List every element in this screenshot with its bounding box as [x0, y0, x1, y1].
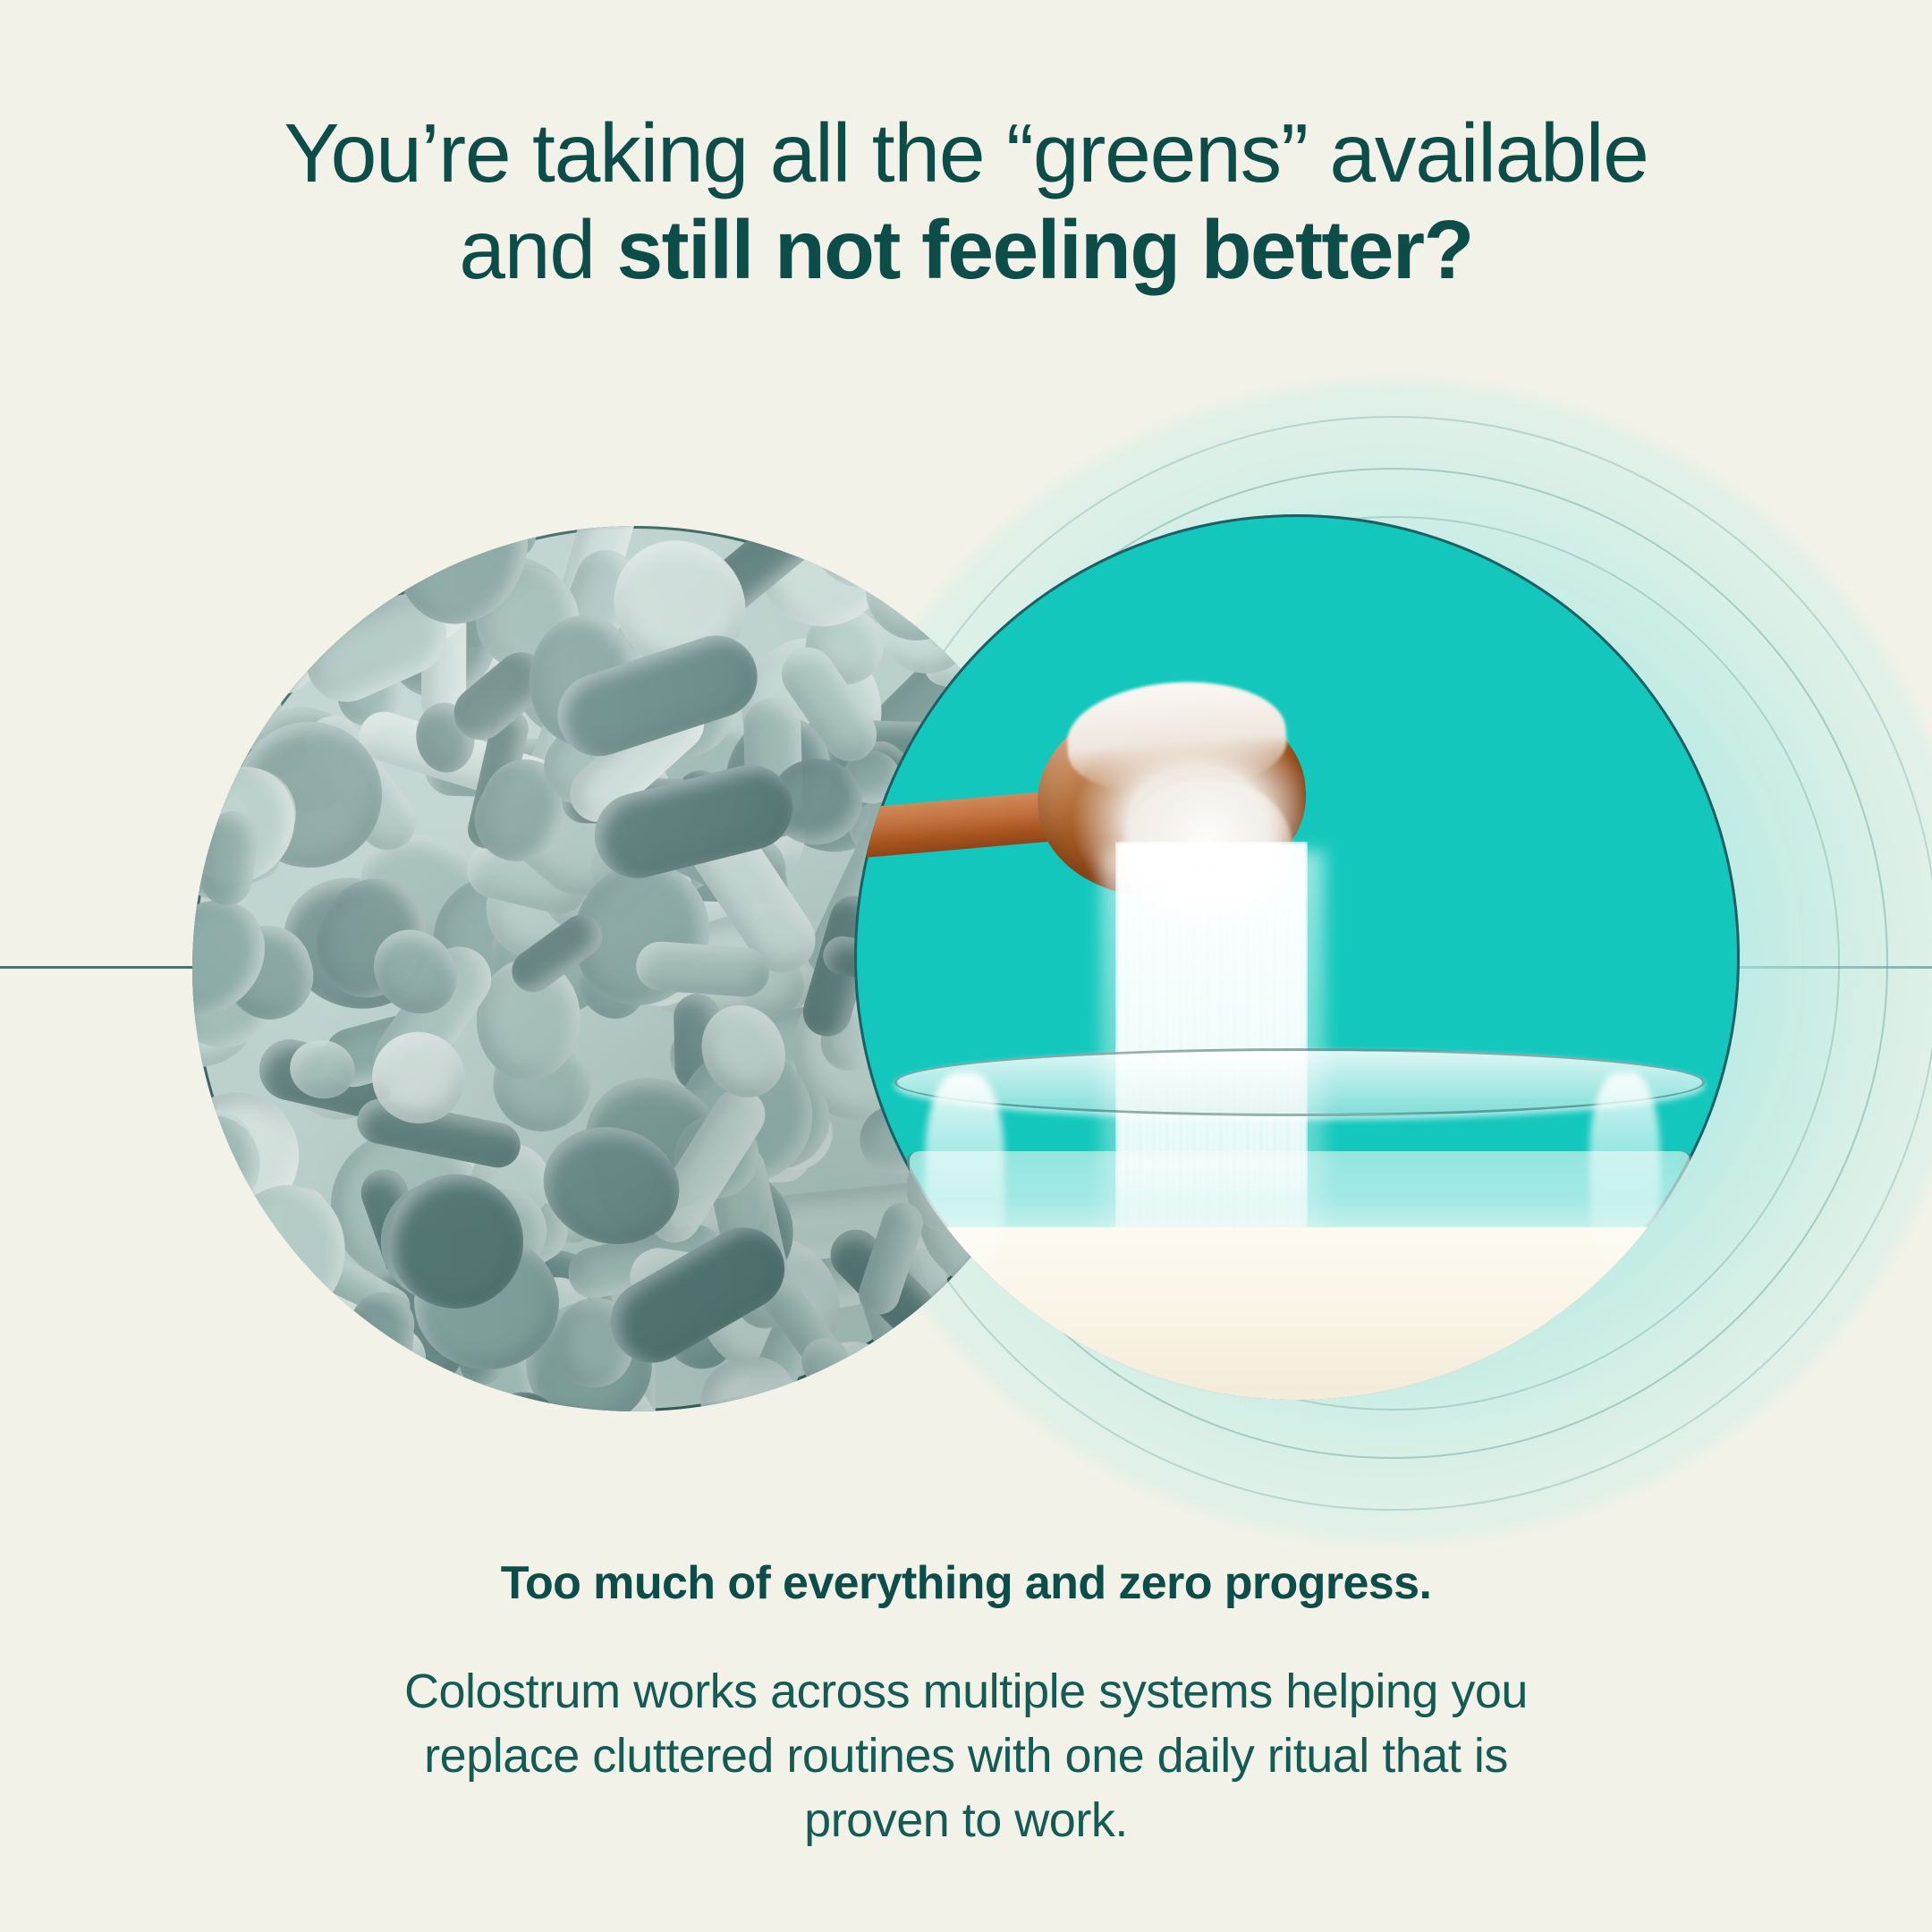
footer-kicker: Too much of everything and zero progress…	[0, 1556, 1932, 1610]
milk-glass-rim	[894, 1048, 1706, 1116]
pill	[634, 939, 770, 997]
footer-body-line-1: Colostrum works across multiple systems …	[228, 1660, 1704, 1724]
milk-liquid	[934, 1227, 1660, 1400]
pill-accent	[389, 1174, 523, 1309]
colostrum-photo	[854, 514, 1740, 1400]
colostrum-circle-image	[854, 514, 1740, 1400]
headline-line-2-bold: still not feeling better?	[617, 203, 1473, 296]
page-title: You’re taking all the “greens” available…	[0, 106, 1932, 299]
headline-line-2-plain: and	[459, 203, 616, 296]
footer-body: Colostrum works across multiple systems …	[228, 1660, 1704, 1852]
headline-line-1: You’re taking all the “greens” available	[0, 106, 1932, 202]
glass-highlight-right	[1589, 1072, 1660, 1276]
ad-creative-canvas: You’re taking all the “greens” available…	[0, 0, 1932, 1932]
headline-line-2: and still not feeling better?	[0, 202, 1932, 299]
glass-highlight-left	[925, 1072, 1004, 1285]
footer-body-line-2: replace cluttered routines with one dail…	[228, 1724, 1704, 1789]
footer-body-line-3: proven to work.	[228, 1789, 1704, 1853]
